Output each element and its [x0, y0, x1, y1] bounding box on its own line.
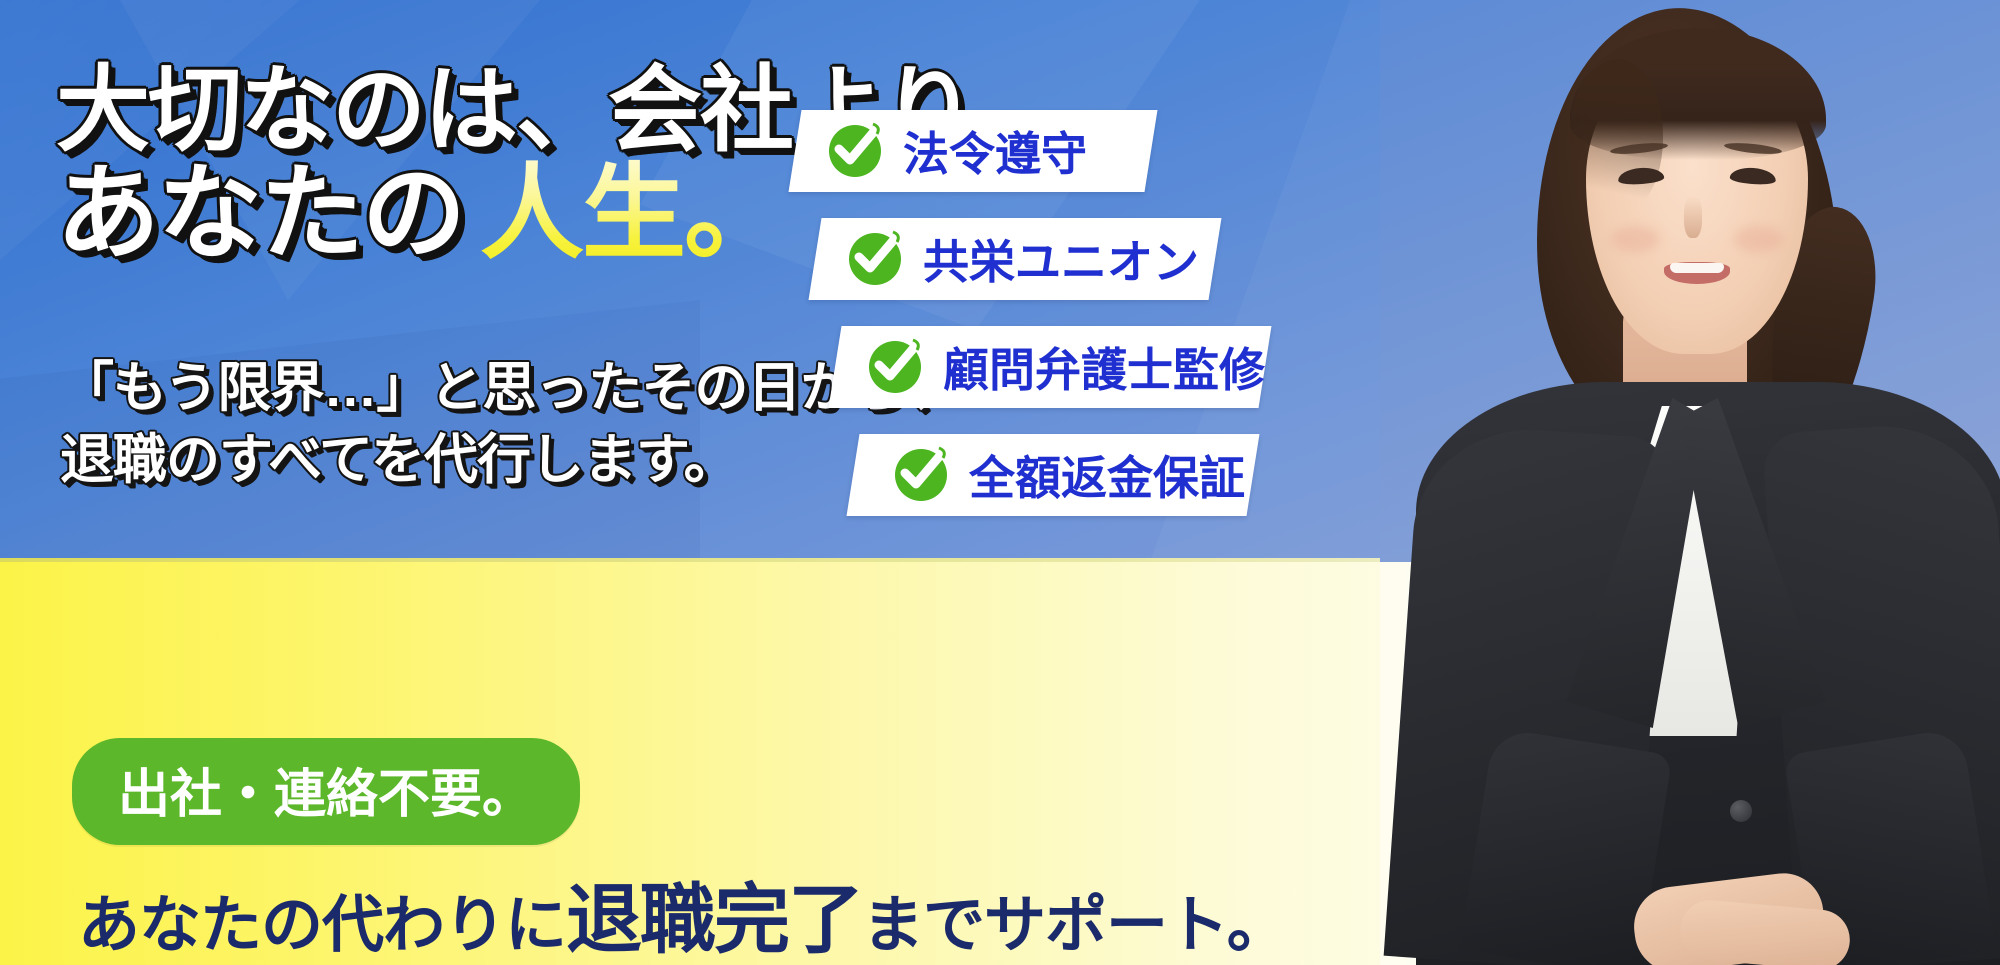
- headline-accent: 人生。: [464, 156, 786, 272]
- feature-badge[interactable]: 共栄ユニオン: [809, 218, 1222, 300]
- headline-line-2-white: あなたの: [56, 156, 464, 272]
- subheadline: 「もう限界…」と思ったその日から、 退職のすべてを代行します。: [60, 352, 820, 497]
- tagline-strong: 退職完了: [566, 878, 862, 963]
- check-circle-icon: [829, 125, 881, 177]
- feature-badge-label: 法令遵守: [903, 118, 1087, 184]
- cheek-left: [1612, 226, 1660, 252]
- subheadline-line-1: 「もう限界…」と思ったその日から、: [60, 352, 820, 424]
- nose: [1684, 196, 1702, 238]
- business-woman-photo: [1380, 0, 2000, 965]
- bottom-tagline: あなたの代わりに退職完了までサポート。: [78, 858, 1288, 965]
- jacket-button: [1730, 800, 1752, 822]
- feature-badge[interactable]: 全額返金保証: [847, 434, 1260, 516]
- check-circle-icon: [895, 449, 947, 501]
- feature-badge[interactable]: 顧問弁護士監修: [829, 326, 1272, 408]
- feature-badge-label: 全額返金保証: [969, 442, 1245, 508]
- promo-banner: 大切なのは、会社より あなたの人生。 「もう限界…」と思ったその日から、 退職の…: [0, 0, 2000, 965]
- tagline-pre: あなたの代わりに: [78, 891, 566, 960]
- feature-badge-list: 法令遵守 共栄ユニオン: [795, 110, 1265, 542]
- feature-badge-label: 顧問弁護士監修: [943, 334, 1265, 400]
- feature-badge[interactable]: 法令遵守: [789, 110, 1158, 192]
- cheek-right: [1734, 226, 1782, 252]
- check-circle-icon: [869, 341, 921, 393]
- tagline-post: までサポート。: [862, 891, 1288, 960]
- headline-line-1: 大切なのは、会社より: [56, 62, 836, 158]
- headline-line-2: あなたの人生。: [56, 160, 836, 268]
- feature-badge-label: 共栄ユニオン: [923, 226, 1199, 292]
- no-contact-pill: 出社・連絡不要。: [72, 738, 580, 845]
- subheadline-line-2: 退職のすべてを代行します。: [60, 424, 820, 496]
- check-circle-icon: [849, 233, 901, 285]
- teeth: [1670, 263, 1724, 273]
- headline: 大切なのは、会社より あなたの人生。: [56, 62, 836, 268]
